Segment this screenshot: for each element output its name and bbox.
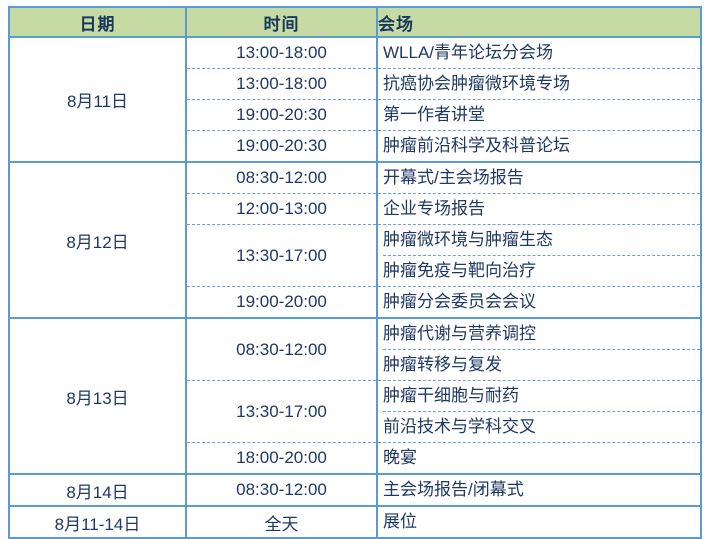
venue-name: 展位: [383, 507, 700, 537]
venue-name: 晚宴: [383, 443, 700, 473]
venue-name: 肿瘤免疫与靶向治疗: [383, 256, 700, 286]
cell-time: 18:00-20:00: [186, 443, 377, 475]
cell-venue: 主会场报告/闭幕式: [377, 474, 701, 506]
cell-time: 13:00-18:00: [186, 37, 377, 69]
cell-venue: 肿瘤微环境与肿瘤生态肿瘤免疫与靶向治疗: [377, 225, 701, 287]
venue-name: 抗癌协会肿瘤微环境专场: [383, 69, 700, 99]
table-row: 8月11-14日全天展位: [9, 506, 701, 538]
conference-schedule-table: 日期 时间 会场 8月11日13:00-18:00WLLA/青年论坛分会场13:…: [8, 6, 702, 539]
cell-venue: 展位: [377, 506, 701, 538]
cell-date: 8月11日: [9, 37, 186, 162]
column-header-venue: 会场: [377, 7, 701, 37]
venue-name: 企业专场报告: [383, 194, 700, 224]
venue-list: 主会场报告/闭幕式: [383, 475, 700, 505]
venue-name: 肿瘤代谢与营养调控: [383, 319, 700, 350]
venue-name: 肿瘤转移与复发: [383, 350, 700, 380]
cell-time: 19:00-20:00: [186, 287, 377, 319]
cell-time: 08:30-12:00: [186, 318, 377, 381]
cell-venue: 肿瘤分会委员会会议: [377, 287, 701, 319]
cell-venue: WLLA/青年论坛分会场: [377, 37, 701, 69]
cell-time: 08:30-12:00: [186, 474, 377, 506]
column-header-date: 日期: [9, 7, 186, 37]
cell-date: 8月11-14日: [9, 506, 186, 538]
venue-list: 抗癌协会肿瘤微环境专场: [383, 69, 700, 99]
cell-time: 12:00-13:00: [186, 194, 377, 225]
cell-time: 19:00-20:30: [186, 131, 377, 163]
venue-list: 晚宴: [383, 443, 700, 473]
table-body: 8月11日13:00-18:00WLLA/青年论坛分会场13:00-18:00抗…: [9, 37, 701, 538]
cell-venue: 晚宴: [377, 443, 701, 475]
cell-date: 8月14日: [9, 474, 186, 506]
venue-name: 主会场报告/闭幕式: [383, 475, 700, 505]
cell-venue: 开幕式/主会场报告: [377, 162, 701, 194]
cell-venue: 肿瘤干细胞与耐药前沿技术与学科交叉: [377, 381, 701, 443]
venue-name: 肿瘤干细胞与耐药: [383, 381, 700, 412]
venue-list: 第一作者讲堂: [383, 100, 700, 130]
cell-time: 13:30-17:00: [186, 225, 377, 287]
cell-venue: 抗癌协会肿瘤微环境专场: [377, 69, 701, 100]
venue-list: 企业专场报告: [383, 194, 700, 224]
table-row: 8月12日08:30-12:00开幕式/主会场报告: [9, 162, 701, 194]
venue-name: WLLA/青年论坛分会场: [383, 38, 700, 68]
venue-name: 前沿技术与学科交叉: [383, 412, 700, 442]
venue-name: 肿瘤分会委员会会议: [383, 287, 700, 317]
cell-time: 全天: [186, 506, 377, 538]
venue-list: 展位: [383, 507, 700, 537]
venue-list: 开幕式/主会场报告: [383, 163, 700, 193]
table-row: 8月13日08:30-12:00肿瘤代谢与营养调控肿瘤转移与复发: [9, 318, 701, 381]
cell-time: 13:30-17:00: [186, 381, 377, 443]
cell-time: 13:00-18:00: [186, 69, 377, 100]
cell-venue: 第一作者讲堂: [377, 100, 701, 131]
header-row: 日期 时间 会场: [9, 7, 701, 37]
cell-date: 8月12日: [9, 162, 186, 318]
venue-name: 第一作者讲堂: [383, 100, 700, 130]
column-header-time: 时间: [186, 7, 377, 37]
venue-list: 肿瘤代谢与营养调控肿瘤转移与复发: [383, 319, 700, 380]
cell-time: 19:00-20:30: [186, 100, 377, 131]
venue-list: 肿瘤前沿科学及科普论坛: [383, 131, 700, 161]
cell-time: 08:30-12:00: [186, 162, 377, 194]
table-row: 8月11日13:00-18:00WLLA/青年论坛分会场: [9, 37, 701, 69]
venue-name: 肿瘤微环境与肿瘤生态: [383, 225, 700, 256]
table-header: 日期 时间 会场: [9, 7, 701, 37]
venue-name: 开幕式/主会场报告: [383, 163, 700, 193]
cell-venue: 企业专场报告: [377, 194, 701, 225]
venue-list: 肿瘤干细胞与耐药前沿技术与学科交叉: [383, 381, 700, 442]
venue-name: 肿瘤前沿科学及科普论坛: [383, 131, 700, 161]
venue-list: WLLA/青年论坛分会场: [383, 38, 700, 68]
venue-list: 肿瘤分会委员会会议: [383, 287, 700, 317]
venue-list: 肿瘤微环境与肿瘤生态肿瘤免疫与靶向治疗: [383, 225, 700, 286]
cell-venue: 肿瘤前沿科学及科普论坛: [377, 131, 701, 163]
schedule-table-container: 日期 时间 会场 8月11日13:00-18:00WLLA/青年论坛分会场13:…: [8, 6, 700, 506]
cell-date: 8月13日: [9, 318, 186, 474]
table-row: 8月14日08:30-12:00主会场报告/闭幕式: [9, 474, 701, 506]
cell-venue: 肿瘤代谢与营养调控肿瘤转移与复发: [377, 318, 701, 381]
